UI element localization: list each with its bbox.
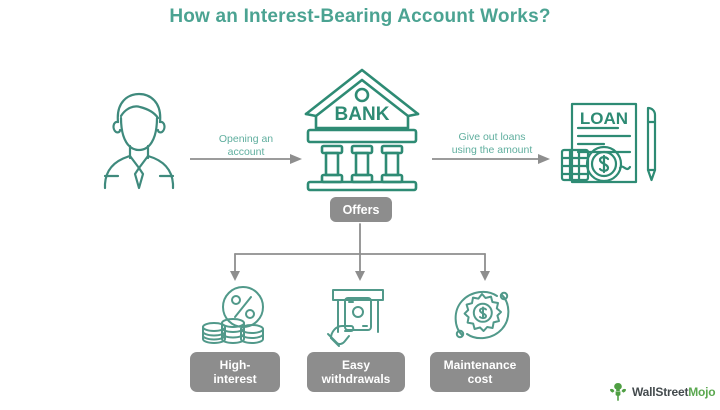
loan-label: LOAN: [580, 109, 628, 128]
bank-building-icon: BANK: [300, 62, 424, 190]
wallstreetmojo-logo[interactable]: WallStreetMojo: [608, 382, 715, 402]
offer-badge-high-interest[interactable]: High- interest: [190, 352, 280, 392]
arrow1-label-line1: Opening an: [219, 133, 273, 145]
bank-label: BANK: [335, 104, 390, 125]
offer-2-line2: withdrawals: [322, 372, 391, 386]
offer-1-line2: interest: [213, 372, 256, 386]
offer-1-line1: High-: [220, 358, 251, 372]
arrow1-label-line2: account: [228, 146, 265, 158]
arrow1-label: Opening an account: [185, 133, 307, 159]
logo-text: WallStreetMojo: [632, 385, 715, 399]
page-title: How an Interest-Bearing Account Works?: [0, 6, 720, 28]
loan-document-icon: LOAN: [560, 98, 664, 190]
offers-tree-connector: [190, 224, 530, 286]
gear-dollar-icon: [450, 283, 514, 347]
arrow2-label-line2: using the amount: [452, 144, 533, 156]
person-icon: [96, 88, 182, 188]
atm-cash-withdrawal-icon: [327, 286, 389, 346]
offers-badge[interactable]: Offers: [330, 197, 392, 222]
offer-2-line1: Easy: [342, 358, 370, 372]
arrow2-label-line1: Give out loans: [458, 131, 525, 143]
logo-text-wallstreet: WallStreet: [632, 385, 688, 399]
logo-text-mojo: Mojo: [688, 385, 715, 399]
offer-3-line2: cost: [468, 372, 493, 386]
arrow2-label: Give out loans using the amount: [428, 131, 556, 157]
coins-percent-icon: [200, 285, 272, 347]
infographic-canvas: How an Interest-Bearing Account Works?: [0, 0, 720, 410]
offer-badge-maintenance-cost[interactable]: Maintenance cost: [430, 352, 530, 392]
wallstreetmojo-bull-icon: [608, 382, 628, 402]
offer-3-line1: Maintenance: [444, 358, 517, 372]
offer-badge-easy-withdrawals[interactable]: Easy withdrawals: [307, 352, 405, 392]
